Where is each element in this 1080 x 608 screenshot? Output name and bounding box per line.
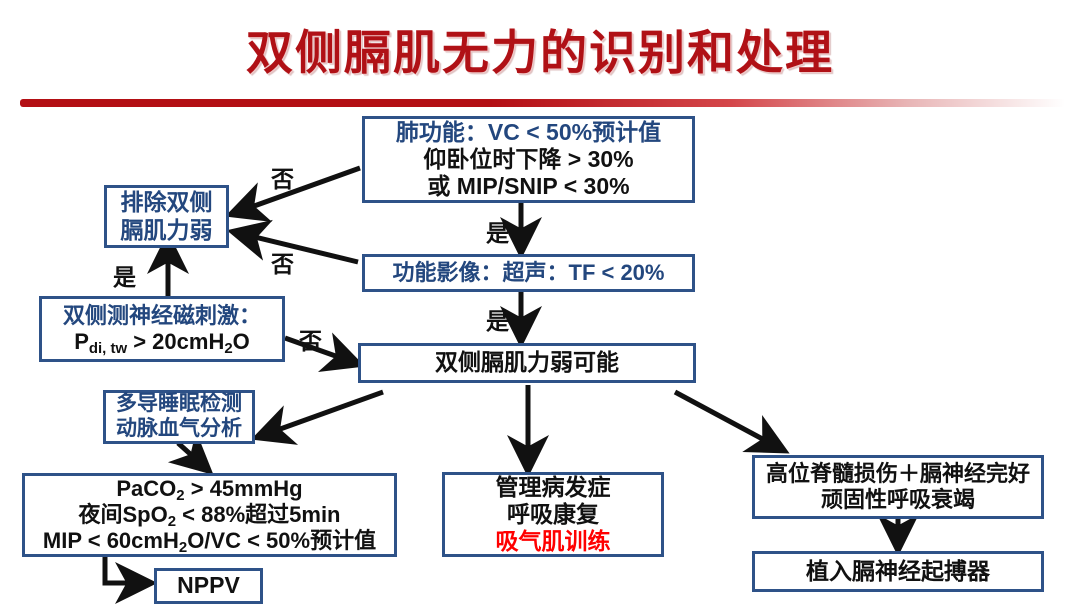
node-polysomnography-line1: 多导睡眠检测: [116, 392, 242, 417]
node-management-line2: 呼吸康复: [507, 501, 599, 528]
arrow-psg-to-bloodgas: [178, 443, 208, 470]
node-functional-imaging-text: 功能影像：超声：TF < 20%: [393, 260, 665, 285]
node-pulmonary-function-line2: 仰卧位时下降 > 30%: [423, 146, 633, 173]
node-pulmonary-function[interactable]: 肺功能：VC < 50%预计值 仰卧位时下降 > 30% 或 MIP/SNIP …: [362, 116, 695, 203]
arrow-pf-to-exclude: [232, 168, 360, 214]
node-bilateral-weakness-line1: 双侧膈肌力弱可能: [435, 349, 619, 376]
node-functional-imaging-line1: 功能影像：超声：TF < 20%: [393, 260, 665, 286]
edge-label-yes-2: 是: [486, 302, 509, 336]
edge-label-yes-1: 是: [486, 214, 509, 248]
node-pulmonary-function-line1: 肺功能：VC < 50%预计值: [396, 119, 661, 146]
node-magnetic-stimulation-line2: Pdi, tw > 20cmH2O: [74, 329, 250, 355]
arrow-imaging-to-exclude: [234, 232, 358, 262]
node-management-line3: 吸气肌训练: [496, 528, 611, 555]
edge-label-no-1: 否: [271, 160, 294, 194]
node-pulmonary-function-line3: 或 MIP/SNIP < 30%: [427, 173, 629, 200]
title-divider-rule: [20, 99, 1065, 107]
node-exclude-weakness-line2: 膈肌力弱: [121, 217, 213, 244]
node-exclude-weakness[interactable]: 排除双侧 膈肌力弱: [104, 185, 229, 248]
node-magnetic-stimulation[interactable]: 双侧测神经磁刺激： Pdi, tw > 20cmH2O: [39, 296, 285, 362]
node-phrenic-pacemaker-line1: 植入膈神经起搏器: [806, 558, 990, 585]
node-management-line1: 管理病发症: [496, 474, 611, 501]
node-blood-gas-criteria[interactable]: PaCO2 > 45mmHg 夜间SpO2 < 88%超过5min MIP < …: [22, 473, 397, 557]
arrow-bloodgas-to-nppv: [105, 557, 150, 583]
node-spinal-cord-injury[interactable]: 高位脊髓损伤＋膈神经完好 顽固性呼吸衰竭: [752, 455, 1044, 519]
node-magnetic-stimulation-line1: 双侧测神经磁刺激：: [63, 303, 261, 329]
node-blood-gas-line2: 夜间SpO2 < 88%超过5min: [78, 502, 340, 528]
arrow-weakness-to-spinal: [675, 392, 783, 450]
node-spinal-cord-injury-line2: 顽固性呼吸衰竭: [821, 487, 975, 513]
edge-label-yes-3: 是: [113, 258, 136, 292]
node-polysomnography[interactable]: 多导睡眠检测 动脉血气分析: [103, 390, 255, 444]
node-polysomnography-line2: 动脉血气分析: [116, 417, 242, 442]
node-nppv[interactable]: NPPV: [154, 568, 263, 604]
page-title: 双侧膈肌无力的识别和处理: [0, 14, 1080, 83]
flowchart-slide: 双侧膈肌无力的识别和处理 否 否 否 是: [0, 0, 1080, 608]
arrow-weakness-to-psg: [258, 392, 383, 437]
node-functional-imaging[interactable]: 功能影像：超声：TF < 20%: [362, 254, 695, 292]
edge-label-no-2: 否: [271, 245, 294, 279]
node-blood-gas-line3: MIP < 60cmH2O/VC < 50%预计值: [43, 528, 376, 554]
node-bilateral-weakness-possible[interactable]: 双侧膈肌力弱可能: [358, 343, 696, 383]
node-blood-gas-line1: PaCO2 > 45mmHg: [116, 476, 302, 502]
node-management[interactable]: 管理病发症 呼吸康复 吸气肌训练: [442, 472, 664, 557]
node-spinal-cord-injury-line1: 高位脊髓损伤＋膈神经完好: [766, 461, 1030, 487]
node-nppv-line1: NPPV: [177, 572, 240, 599]
node-exclude-weakness-line1: 排除双侧: [121, 189, 213, 216]
node-phrenic-pacemaker[interactable]: 植入膈神经起搏器: [752, 551, 1044, 592]
edge-label-no-3: 否: [299, 322, 322, 356]
